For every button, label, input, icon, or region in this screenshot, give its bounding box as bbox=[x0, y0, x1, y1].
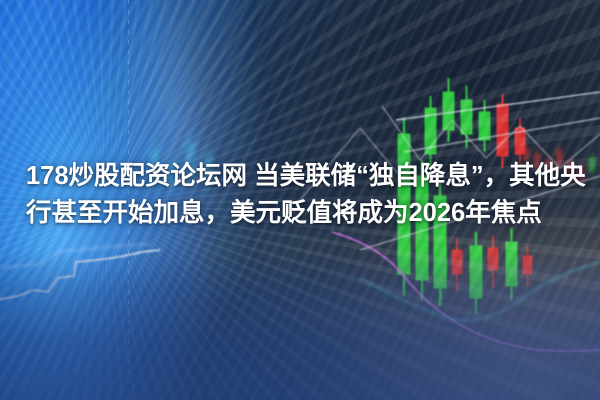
news-thumbnail-image: 178炒股配资论坛网 当美联储“独自降息”，其他央行甚至开始加息，美元贬值将成为… bbox=[0, 0, 600, 400]
headline-watermark: 178炒股配资论坛网 bbox=[26, 162, 247, 190]
headline-text: 178炒股配资论坛网 当美联储“独自降息”，其他央行甚至开始加息，美元贬值将成为… bbox=[26, 158, 598, 232]
bottom-blue-fade bbox=[0, 250, 600, 400]
